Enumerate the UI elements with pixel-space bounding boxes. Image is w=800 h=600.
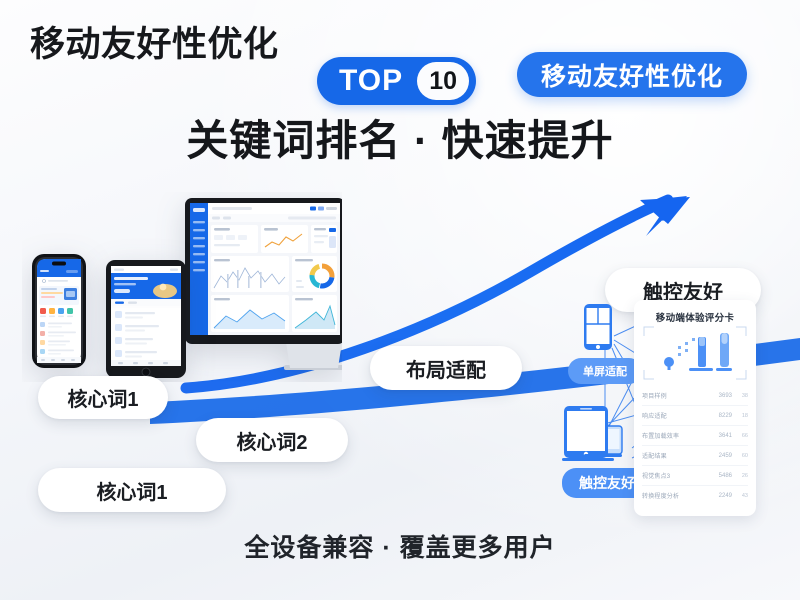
single-screen-pill[interactable]: 单屏适配 — [568, 358, 642, 384]
row-delta: 18 — [732, 413, 748, 419]
keyword-pill-3[interactable]: 核心词1 — [38, 468, 226, 512]
table-row: 适配结果 2459 60 — [642, 446, 748, 466]
feature-tag-badge: 移动友好性优化 — [517, 52, 747, 97]
row-delta: 26 — [732, 473, 748, 479]
row-delta: 60 — [732, 453, 748, 459]
device-mockup-group — [22, 192, 342, 382]
top-badge-word: TOP — [339, 66, 417, 96]
table-row: 转换程度分析 2249 43 — [642, 486, 748, 505]
table-row: 视觉焦点3 5486 26 — [642, 466, 748, 486]
page-headline: 关键词排名 · 快速提升 — [0, 118, 800, 164]
row-label: 项目样例 — [642, 391, 706, 400]
row-label: 响应适配 — [642, 411, 706, 420]
score-chart-icon — [642, 324, 748, 382]
mobile-score-card: 移动端体验评分卡 — [634, 300, 756, 516]
row-value: 5486 — [706, 473, 732, 479]
score-card-title: 移动端体验评分卡 — [634, 310, 756, 324]
row-label: 视觉焦点3 — [642, 471, 706, 480]
tablet-icon — [106, 260, 186, 378]
desktop-monitor-icon — [185, 198, 342, 370]
tablet-outline-icon — [562, 404, 642, 466]
row-value: 3641 — [706, 433, 732, 439]
table-row: 项目样例 3693 38 — [642, 386, 748, 406]
smartphone-outline-icon — [576, 302, 620, 354]
row-value: 2249 — [706, 493, 732, 499]
layout-fit-pill[interactable]: 布局适配 — [370, 346, 522, 390]
row-value: 8229 — [706, 413, 732, 419]
mobile-score-diagram: 单屏适配 触控友好 移动端体验评分卡 — [556, 296, 800, 516]
keyword-pill-1[interactable]: 核心词1 — [38, 376, 168, 419]
row-label: 适配结果 — [642, 451, 706, 460]
row-value: 2459 — [706, 453, 732, 459]
row-delta: 43 — [732, 493, 748, 499]
row-label: 转换程度分析 — [642, 491, 706, 500]
top-badge-number: 10 — [417, 62, 469, 100]
smartphone-icon — [32, 254, 86, 368]
row-delta: 66 — [732, 433, 748, 439]
score-table: 项目样例 3693 38 响应适配 8229 18 布置加载效率 3641 66… — [642, 386, 748, 505]
row-delta: 38 — [732, 393, 748, 399]
page-kicker: 移动友好性优化 — [30, 27, 279, 62]
row-value: 3693 — [706, 393, 732, 399]
table-row: 响应适配 8229 18 — [642, 406, 748, 426]
keyword-pill-2[interactable]: 核心词2 — [196, 418, 348, 462]
poster-canvas: 移动友好性优化 TOP 10 移动友好性优化 关键词排名 · 快速提升 — [0, 0, 800, 600]
table-row: 布置加载效率 3641 66 — [642, 426, 748, 446]
top-rank-badge: TOP 10 — [317, 57, 476, 105]
footer-tagline: 全设备兼容 · 覆盖更多用户 — [0, 528, 800, 564]
row-label: 布置加载效率 — [642, 431, 706, 440]
